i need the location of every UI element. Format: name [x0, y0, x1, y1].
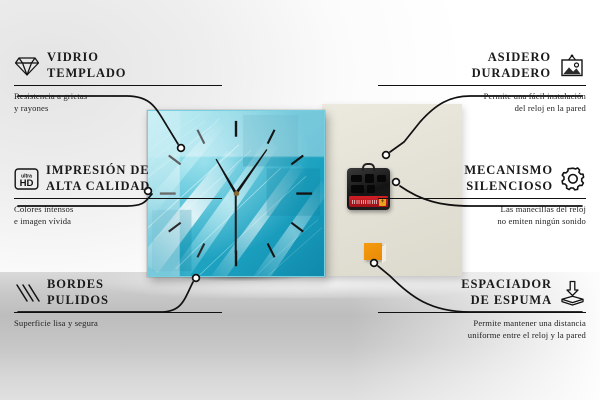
feature-desc-line1: Superficie lisa y segura — [14, 317, 222, 329]
feature-title-line1: ASIDERO — [472, 50, 551, 66]
feature-divider — [14, 198, 222, 200]
diamond-icon — [14, 55, 40, 77]
feature-desc-line2: uniforme entre el reloj y la pared — [378, 329, 586, 341]
foam-spacer-arrow-icon — [559, 280, 586, 306]
infographic-canvas: + — [0, 0, 600, 400]
dot-vidrio — [178, 145, 185, 152]
feature-title-line2: DE ESPUMA — [461, 293, 552, 309]
feature-title-line1: ESPACIADOR — [461, 277, 552, 293]
dot-asidero — [383, 152, 390, 159]
feature-desc-line2: y rayones — [14, 102, 222, 114]
feature-divider — [14, 312, 222, 314]
hd-badge-hd-label: HD — [20, 178, 34, 189]
feature-desc-line2: no emiten ningún sonido — [378, 215, 586, 227]
dot-espaciador — [371, 260, 378, 267]
polished-edges-icon — [14, 282, 40, 304]
feature-impresion-alta-calidad: ultra HD IMPRESIÓN DE ALTA CALIDAD Color… — [14, 163, 222, 227]
feature-title-line1: BORDES — [47, 277, 109, 293]
feature-divider — [378, 85, 586, 87]
feature-divider — [378, 312, 586, 314]
feature-desc-line1: Permite mantener una distancia — [378, 317, 586, 329]
feature-divider — [14, 85, 222, 87]
feature-desc-line1: Las manecillas del reloj — [378, 203, 586, 215]
feature-title-line2: SILENCIOSO — [464, 179, 553, 195]
feature-title-line1: VIDRIO — [47, 50, 126, 66]
ultra-hd-badge-icon: ultra HD — [14, 167, 39, 191]
feature-bordes-pulidos: BORDES PULIDOS Superficie lisa y segura — [14, 277, 222, 329]
feature-desc-line1: Permite una fácil instalación — [378, 90, 586, 102]
feature-title-line2: TEMPLADO — [47, 66, 126, 82]
feature-title-line1: IMPRESIÓN DE — [46, 163, 150, 179]
gear-icon — [560, 166, 586, 191]
feature-desc-line2: e imagen vívida — [14, 215, 222, 227]
feature-desc-line1: Colores intensos — [14, 203, 222, 215]
feature-mecanismo-silencioso: MECANISMO SILENCIOSO Las manecillas del … — [378, 163, 586, 227]
feature-desc-line1: Resistencia a grietas — [14, 90, 222, 102]
feature-desc-line2: del reloj en la pared — [378, 102, 586, 114]
feature-title-line1: MECANISMO — [464, 163, 553, 179]
feature-title-line2: DURADERO — [472, 66, 551, 82]
feature-title-line2: PULIDOS — [47, 293, 109, 309]
feature-asidero-duradero: ASIDERO DURADERO Permite una fácil insta… — [378, 50, 586, 114]
feature-espaciador-de-espuma: ESPACIADOR DE ESPUMA Permite mantener un… — [378, 277, 586, 341]
feature-title-line2: ALTA CALIDAD — [46, 179, 150, 195]
feature-divider — [378, 198, 586, 200]
picture-frame-hanger-icon — [558, 54, 586, 78]
feature-vidrio-templado: VIDRIO TEMPLADO Resistencia a grietas y … — [14, 50, 222, 114]
